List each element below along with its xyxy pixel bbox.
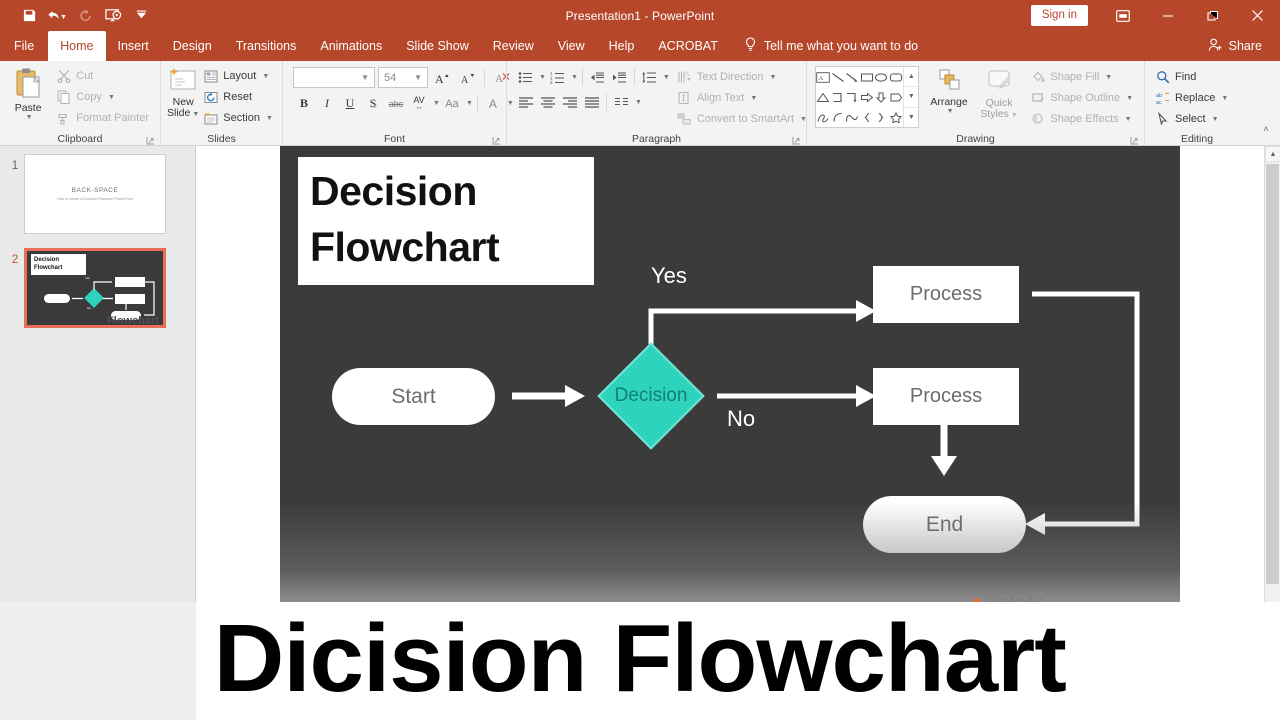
- shape-fill-button[interactable]: Shape Fill ▼: [1028, 67, 1138, 87]
- thumb2-watermark: Flowchart: [27, 315, 159, 327]
- quick-styles-button[interactable]: Quick Styles▼: [979, 66, 1020, 121]
- scissors-icon: [56, 68, 72, 84]
- format-painter-button[interactable]: Format Painter: [54, 108, 154, 128]
- share-label: Share: [1229, 39, 1262, 53]
- reset-label: Reset: [223, 91, 252, 103]
- change-case-button[interactable]: Aa: [441, 93, 463, 114]
- drawing-dialog-launcher-icon[interactable]: [1130, 136, 1139, 145]
- minimize-icon[interactable]: [1145, 0, 1190, 31]
- tab-insert[interactable]: Insert: [106, 31, 161, 61]
- shape-down-arrow-icon[interactable]: [874, 87, 889, 107]
- ribbon-group-font: ▼ 54 ▼ A A A: [282, 61, 506, 146]
- undo-icon[interactable]: ▼: [44, 4, 70, 28]
- slide-number-2: 2: [6, 248, 24, 266]
- close-icon[interactable]: [1235, 0, 1280, 31]
- font-dialog-launcher-icon[interactable]: [492, 136, 501, 145]
- increase-indent-button[interactable]: [609, 67, 630, 87]
- font-size-combo[interactable]: 54 ▼: [378, 67, 428, 88]
- new-slide-label: New Slide▼: [167, 97, 199, 120]
- tab-help[interactable]: Help: [597, 31, 647, 61]
- align-right-button[interactable]: [559, 92, 580, 112]
- svg-text:Yes: Yes: [85, 276, 90, 280]
- svg-text:No: No: [87, 306, 91, 310]
- group-label-slides: Slides: [161, 131, 282, 146]
- shape-effects-button[interactable]: Shape Effects ▼: [1028, 109, 1138, 129]
- share-person-icon: [1208, 38, 1223, 55]
- text-direction-icon: A: [677, 69, 693, 85]
- svg-text:A: A: [435, 72, 444, 86]
- group-label-clipboard: Clipboard: [0, 131, 160, 146]
- tab-home[interactable]: Home: [48, 31, 105, 61]
- ribbon: Paste ▼ Cut Copy ▼: [0, 61, 1280, 146]
- shape-rectangle-icon[interactable]: [860, 67, 875, 87]
- scrollbar-thumb[interactable]: [1266, 164, 1279, 584]
- thumbnail-row-1[interactable]: 1 BACK-SPACE How to create a Decision Fl…: [0, 146, 195, 234]
- ribbon-display-options-icon[interactable]: [1100, 0, 1145, 31]
- arrange-label: Arrange: [930, 97, 967, 108]
- shape-pentagon-icon[interactable]: [889, 87, 904, 107]
- numbering-button[interactable]: 123: [547, 67, 568, 87]
- svg-text:ac: ac: [1156, 100, 1162, 105]
- ribbon-group-paragraph: ▼ 123 ▼: [506, 61, 806, 146]
- increase-font-size-button[interactable]: A: [431, 67, 453, 88]
- tab-animations[interactable]: Animations: [308, 31, 394, 61]
- paste-button[interactable]: Paste ▼: [6, 65, 50, 121]
- svg-text:A: A: [819, 75, 824, 82]
- edge-label-yes: Yes: [651, 263, 687, 289]
- node-process-2-label: Process: [910, 385, 982, 408]
- italic-button[interactable]: I: [316, 93, 338, 114]
- paragraph-dialog-launcher-icon[interactable]: [792, 136, 801, 145]
- save-icon[interactable]: [16, 4, 42, 28]
- shape-arrow-icon[interactable]: [845, 67, 860, 87]
- start-from-beginning-icon[interactable]: [100, 4, 126, 28]
- smartart-icon: [677, 111, 693, 127]
- cursor-icon: [1155, 111, 1171, 127]
- restore-icon[interactable]: [1190, 0, 1235, 31]
- shape-triangle-icon[interactable]: [816, 87, 831, 107]
- shape-rounded-rectangle-icon[interactable]: [889, 67, 904, 87]
- layout-label: Layout: [223, 70, 256, 82]
- shape-oval-icon[interactable]: [874, 67, 889, 87]
- align-text-icon: [677, 90, 693, 106]
- shapes-gallery[interactable]: A: [815, 66, 919, 128]
- replace-label: Replace: [1175, 92, 1215, 104]
- cut-label: Cut: [76, 70, 93, 82]
- convert-to-smartart-label: Convert to SmartArt: [697, 113, 794, 125]
- shape-line-icon[interactable]: [831, 67, 846, 87]
- bullets-button[interactable]: [515, 67, 536, 87]
- shape-elbow-connector-icon[interactable]: [831, 87, 846, 107]
- shape-effects-icon: [1030, 111, 1046, 127]
- decrease-indent-button[interactable]: [587, 67, 608, 87]
- search-icon: [1155, 69, 1171, 85]
- tab-view[interactable]: View: [546, 31, 597, 61]
- find-label: Find: [1175, 71, 1196, 83]
- convert-to-smartart-button[interactable]: Convert to SmartArt ▼: [675, 109, 812, 129]
- text-shadow-button[interactable]: S: [362, 93, 384, 114]
- tell-me-search[interactable]: Tell me what you want to do: [730, 31, 918, 61]
- columns-button[interactable]: [611, 92, 632, 112]
- tab-review[interactable]: Review: [481, 31, 546, 61]
- arrange-button[interactable]: Arrange ▼: [926, 66, 971, 115]
- svg-text:ab: ab: [1156, 93, 1162, 99]
- justify-button[interactable]: [581, 92, 602, 112]
- ribbon-tab-strip[interactable]: File Home Insert Design Transitions Anim…: [0, 31, 1280, 61]
- text-direction-button[interactable]: A Text Direction ▼: [675, 67, 812, 87]
- group-label-paragraph: Paragraph: [507, 131, 806, 146]
- tab-acrobat[interactable]: ACROBAT: [646, 31, 730, 61]
- replace-button[interactable]: abac Replace ▼: [1153, 88, 1233, 108]
- paste-label: Paste: [15, 103, 42, 114]
- align-text-button[interactable]: Align Text ▼: [675, 88, 812, 108]
- font-color-button[interactable]: A: [482, 93, 504, 114]
- ribbon-group-drawing: A: [806, 61, 1144, 146]
- copy-icon: [56, 89, 72, 105]
- group-label-font: Font: [283, 131, 506, 146]
- title-bar: ▼ Presentation1 - PowerPoint Sign in: [0, 0, 1280, 31]
- quick-access-toolbar[interactable]: ▼: [0, 4, 154, 28]
- node-start[interactable]: Start: [332, 368, 495, 425]
- thumb1-title: BACK-SPACE: [25, 187, 165, 194]
- shape-star-icon[interactable]: [889, 107, 904, 127]
- slide-thumbnail-1[interactable]: BACK-SPACE How to create a Decision Flow…: [24, 154, 166, 234]
- window-controls: Sign in: [1031, 0, 1280, 31]
- quick-styles-label: Quick Styles▼: [980, 98, 1018, 121]
- clipboard-dialog-launcher-icon[interactable]: [146, 136, 155, 145]
- align-text-label: Align Text: [697, 92, 745, 104]
- cut-button[interactable]: Cut: [54, 66, 154, 86]
- node-decision-label-wrap: Decision: [598, 382, 704, 410]
- shape-curve-icon[interactable]: [845, 107, 860, 127]
- section-button[interactable]: Section ▼: [201, 108, 278, 128]
- ribbon-group-editing: Find abac Replace ▼ Select: [1144, 61, 1249, 146]
- shape-elbow-arrow-icon[interactable]: [845, 87, 860, 107]
- shape-right-brace-icon[interactable]: [874, 107, 889, 127]
- font-name-combo[interactable]: ▼: [293, 67, 375, 88]
- shape-arc-icon[interactable]: [831, 107, 846, 127]
- node-process-1-label: Process: [910, 283, 982, 306]
- ribbon-group-slides: New Slide▼ Layout ▼: [160, 61, 282, 146]
- copy-label: Copy: [76, 91, 102, 103]
- shapes-scroll-down-icon[interactable]: ▼: [904, 86, 918, 106]
- section-label: Section: [223, 112, 260, 124]
- format-painter-icon: [56, 110, 72, 126]
- select-label: Select: [1175, 113, 1206, 125]
- customize-quick-access-toolbar-icon[interactable]: [128, 4, 154, 28]
- overlay-background-left: [0, 602, 196, 720]
- tab-file[interactable]: File: [0, 31, 48, 61]
- node-decision-label: Decision: [615, 385, 688, 407]
- replace-icon: abac: [1155, 90, 1171, 106]
- tab-design[interactable]: Design: [161, 31, 224, 61]
- shapes-gallery-scrollbar[interactable]: ▲ ▼ ▼: [903, 67, 918, 127]
- svg-text:A: A: [495, 73, 503, 85]
- lightbulb-icon: [744, 37, 757, 55]
- node-process-2[interactable]: Process: [873, 368, 1019, 425]
- shapes-gallery-more-icon[interactable]: ▼: [904, 107, 918, 127]
- layout-button[interactable]: Layout ▼: [201, 66, 278, 86]
- shape-outline-button[interactable]: Shape Outline ▼: [1028, 88, 1138, 108]
- thumb1-subtitle: How to create a Decision Flowchart Power…: [25, 197, 165, 201]
- tab-transitions[interactable]: Transitions: [224, 31, 309, 61]
- align-left-button[interactable]: [515, 92, 536, 112]
- section-icon: [203, 110, 219, 126]
- shape-freeform-icon[interactable]: [816, 107, 831, 127]
- shape-outline-label: Shape Outline: [1050, 92, 1120, 104]
- scroll-up-icon[interactable]: ▲: [1265, 146, 1280, 162]
- collapse-ribbon-icon[interactable]: ˄: [1258, 122, 1274, 136]
- tab-slide-show[interactable]: Slide Show: [394, 31, 481, 61]
- character-spacing-button[interactable]: AV↔: [408, 93, 430, 114]
- shapes-scroll-up-icon[interactable]: ▲: [904, 67, 918, 86]
- svg-text:A: A: [686, 72, 691, 78]
- align-center-button[interactable]: [537, 92, 558, 112]
- line-spacing-button[interactable]: [639, 67, 660, 87]
- slide-number-1: 1: [6, 154, 24, 172]
- shape-fill-label: Shape Fill: [1050, 71, 1099, 83]
- slide-canvas[interactable]: Decision Flowchart: [280, 146, 1180, 652]
- shape-right-arrow-icon[interactable]: [860, 87, 875, 107]
- new-slide-button[interactable]: New Slide▼: [167, 65, 199, 120]
- shape-left-brace-icon[interactable]: [860, 107, 875, 127]
- node-start-label: Start: [391, 385, 435, 409]
- shape-outline-icon: [1030, 90, 1046, 106]
- select-button[interactable]: Select ▼: [1153, 109, 1233, 129]
- group-label-drawing: Drawing: [807, 131, 1144, 146]
- format-painter-label: Format Painter: [76, 112, 149, 124]
- find-button[interactable]: Find: [1153, 67, 1233, 87]
- copy-button[interactable]: Copy ▼: [54, 87, 154, 107]
- strikethrough-button[interactable]: abc: [385, 93, 407, 114]
- redo-icon[interactable]: [72, 4, 98, 28]
- reset-icon: [203, 89, 219, 105]
- reset-button[interactable]: Reset: [201, 87, 278, 107]
- group-label-editing: Editing: [1145, 131, 1249, 146]
- underline-button[interactable]: U: [339, 93, 361, 114]
- ribbon-group-clipboard: Paste ▼ Cut Copy ▼: [0, 61, 160, 146]
- slide-thumbnail-2[interactable]: DecisionFlowchart Yes No Flow: [24, 248, 166, 328]
- font-size-value: 54: [384, 72, 411, 84]
- bold-button[interactable]: B: [293, 93, 315, 114]
- edge-label-no: No: [727, 406, 755, 432]
- shape-effects-label: Shape Effects: [1050, 113, 1118, 125]
- decrease-font-size-button[interactable]: A: [456, 67, 478, 88]
- thumbnail-row-2[interactable]: 2 DecisionFlowchart Yes: [0, 234, 195, 328]
- node-process-1[interactable]: Process: [873, 266, 1019, 323]
- layout-icon: [203, 68, 219, 84]
- shape-textbox-icon[interactable]: A: [816, 67, 831, 87]
- svg-text:A: A: [461, 75, 469, 86]
- shape-fill-icon: [1030, 69, 1046, 85]
- tell-me-label: Tell me what you want to do: [764, 39, 918, 53]
- sign-in-button[interactable]: Sign in: [1031, 5, 1088, 26]
- share-button[interactable]: Share: [1198, 31, 1272, 61]
- text-direction-label: Text Direction: [697, 71, 764, 83]
- svg-text:3: 3: [550, 79, 553, 83]
